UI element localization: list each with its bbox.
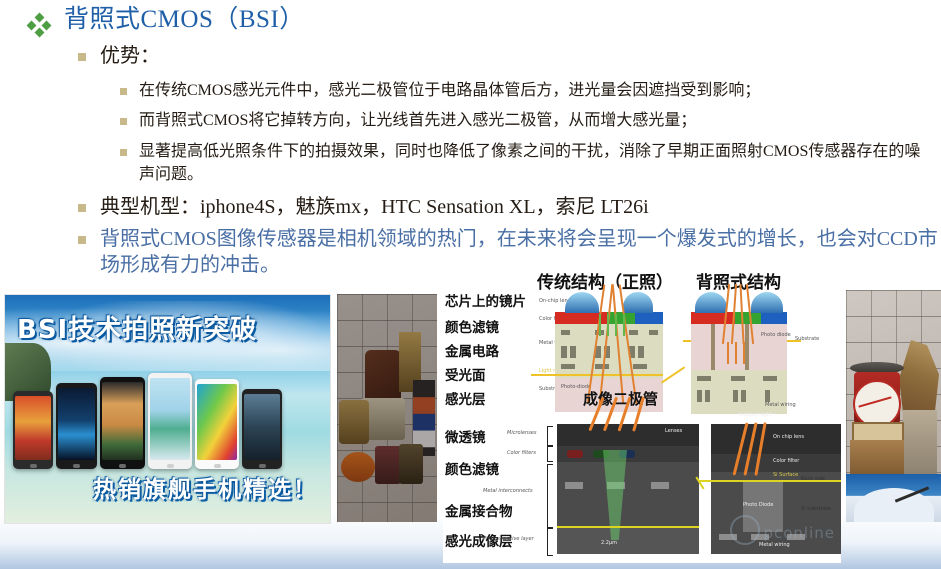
bullet-point-3-text: 显著提高低光照条件下的拍摄效果，同时也降低了像素之间的干扰，消除了早期正面照射C… — [139, 141, 930, 186]
square-bullet-icon — [120, 88, 127, 95]
diagram-label-metal-wiring: 金属电路 — [445, 340, 499, 360]
diamond-bullet-icon — [28, 14, 50, 36]
front-lens-dome-2 — [623, 292, 653, 313]
diagram-en-color-filter-low: Color filter — [773, 458, 799, 464]
square-bullet-icon — [120, 149, 127, 156]
diagram-label-photo-layer: 感光层 — [445, 388, 486, 408]
ad-headline-text: BSI技术拍照新突破 — [17, 309, 257, 346]
bullet-point-3: 显著提高低光照条件下的拍摄效果，同时也降低了像素之间的干扰，消除了早期正面照射C… — [120, 141, 930, 186]
diagram-label-light-surface: 受光面 — [445, 364, 486, 384]
diagram-en-incident-light: Incident light — [739, 412, 772, 418]
sem-metal-band — [557, 462, 699, 528]
diagram-scale-note: 2.2μm — [601, 540, 617, 546]
diagram-en-photosensitive-layer: Photosensitive layer — [483, 536, 534, 542]
diagram-en-onchip-lens-low: On chip lens — [773, 434, 804, 440]
diagram-en-photo-diode: Photo Diode — [743, 502, 773, 508]
wooden-crate — [850, 440, 904, 478]
low-light-dim-overlay — [337, 294, 437, 522]
slide-title-row: 背照式CMOS（BSI） — [28, 6, 305, 36]
bsi-lens-dome-2 — [751, 292, 783, 313]
front-green-filter — [607, 312, 635, 324]
square-bullet-icon — [120, 118, 127, 125]
watermark-text: pconline — [763, 524, 835, 542]
typical-models-text: 典型机型：iphone4S，魅族mx，HTC Sensation XL，索尼 L… — [100, 195, 649, 221]
market-trend-text: 背照式CMOS图像传感器是相机领域的热门，在未来将会呈现一个爆发式的增长，也会对… — [100, 227, 938, 278]
ad-phone-lineup — [13, 357, 323, 469]
diagram-en-si-substrate: Si substrate — [801, 506, 831, 512]
phone-5 — [195, 379, 239, 469]
diagram-label-imaging-diode: 成像二极管 — [583, 388, 658, 409]
bullet-point-1-text: 在传统CMOS感光元件中，感光二极管位于电路晶体管后方，进光量会因遮挡受到影响； — [139, 80, 760, 103]
bsi-lens-dome-1 — [695, 292, 727, 313]
phone-3 — [100, 377, 145, 469]
diagram-label-color-filters-low: 颜色滤镜 — [445, 458, 499, 478]
front-light-surface-line — [531, 374, 663, 376]
sem-photosensitive-band — [557, 528, 699, 554]
phone-ad-banner-image: BSI技术拍照新突破 热销旗舰手机精选！ — [4, 294, 331, 524]
bsi-blue-filter — [761, 312, 787, 324]
front-lens-dome-1 — [565, 292, 599, 313]
diagram-en-si-surface: Si Surface — [773, 472, 798, 478]
front-blue-filter — [635, 312, 663, 324]
bsi-red-filter — [691, 312, 735, 324]
bullet-typical-models: 典型机型：iphone4S，魅族mx，HTC Sensation XL，索尼 L… — [78, 195, 649, 221]
phone-4 — [148, 373, 192, 469]
square-bullet-icon — [78, 236, 86, 244]
blue-white-bowl — [846, 474, 941, 522]
glass-vase — [903, 410, 937, 474]
phone-6 — [242, 389, 282, 469]
square-bullet-icon — [78, 53, 86, 61]
slide-text-area: 背照式CMOS（BSI） 优势： 在传统CMOS感光元件中，感光二极管位于电路晶… — [0, 0, 941, 292]
diagram-label-color-filter: 颜色滤镜 — [445, 316, 499, 336]
bsi-substrate — [691, 324, 787, 370]
bullet-advantage-heading: 优势： — [78, 44, 160, 70]
bullet-market-trend: 背照式CMOS图像传感器是相机领域的热门，在未来将会呈现一个爆发式的增长，也会对… — [78, 227, 938, 278]
bullet-point-2-text: 而背照式CMOS将它掉转方向，让光线首先进入感光二极管，从而增大感光量； — [139, 110, 696, 133]
bullet-point-2: 而背照式CMOS将它掉转方向，让光线首先进入感光二极管，从而增大感光量； — [120, 110, 696, 133]
square-bullet-icon — [78, 204, 86, 212]
diagram-en-microlenses: Microlenses — [507, 430, 537, 436]
pconline-watermark: pconline — [730, 515, 835, 545]
diagram-en-photodiode-bsi: Photo diode — [761, 332, 791, 338]
diagram-en-metal-wiring-bsi: Metal wiring — [765, 402, 796, 408]
diagram-label-onchip-lens: 芯片上的镜片 — [445, 290, 526, 310]
low-light-sample-photo-dark — [337, 294, 437, 522]
page-title: 背照式CMOS（BSI） — [64, 6, 305, 35]
ad-subline-text: 热销旗舰手机精选！ — [93, 470, 318, 504]
diagram-label-metal-interconnects: 金属接合物 — [445, 500, 513, 520]
phone-2 — [56, 383, 97, 469]
diagram-en-color-filters: Color filters — [507, 450, 536, 456]
advantage-heading-text: 优势： — [100, 44, 160, 70]
diagram-en-substrate-bsi: Substrate — [795, 336, 819, 342]
bowl-interior — [854, 488, 934, 522]
diagram-en-metal-interconnects: Metal interconnects — [483, 488, 533, 494]
phone-1 — [13, 391, 53, 469]
cmos-structure-diagram: 传统结构（正照） 背照式结构 芯片上的镜片 颜色滤镜 金属电路 受光面 感光层 … — [443, 268, 841, 563]
diagram-en-lenses: Lenses — [665, 428, 682, 434]
bullet-point-1: 在传统CMOS感光元件中，感光二极管位于电路晶体管后方，进光量会因遮挡受到影响； — [120, 80, 760, 103]
diagram-label-microlenses: 微透镜 — [445, 426, 486, 446]
low-light-sample-photo-bright — [846, 290, 941, 522]
